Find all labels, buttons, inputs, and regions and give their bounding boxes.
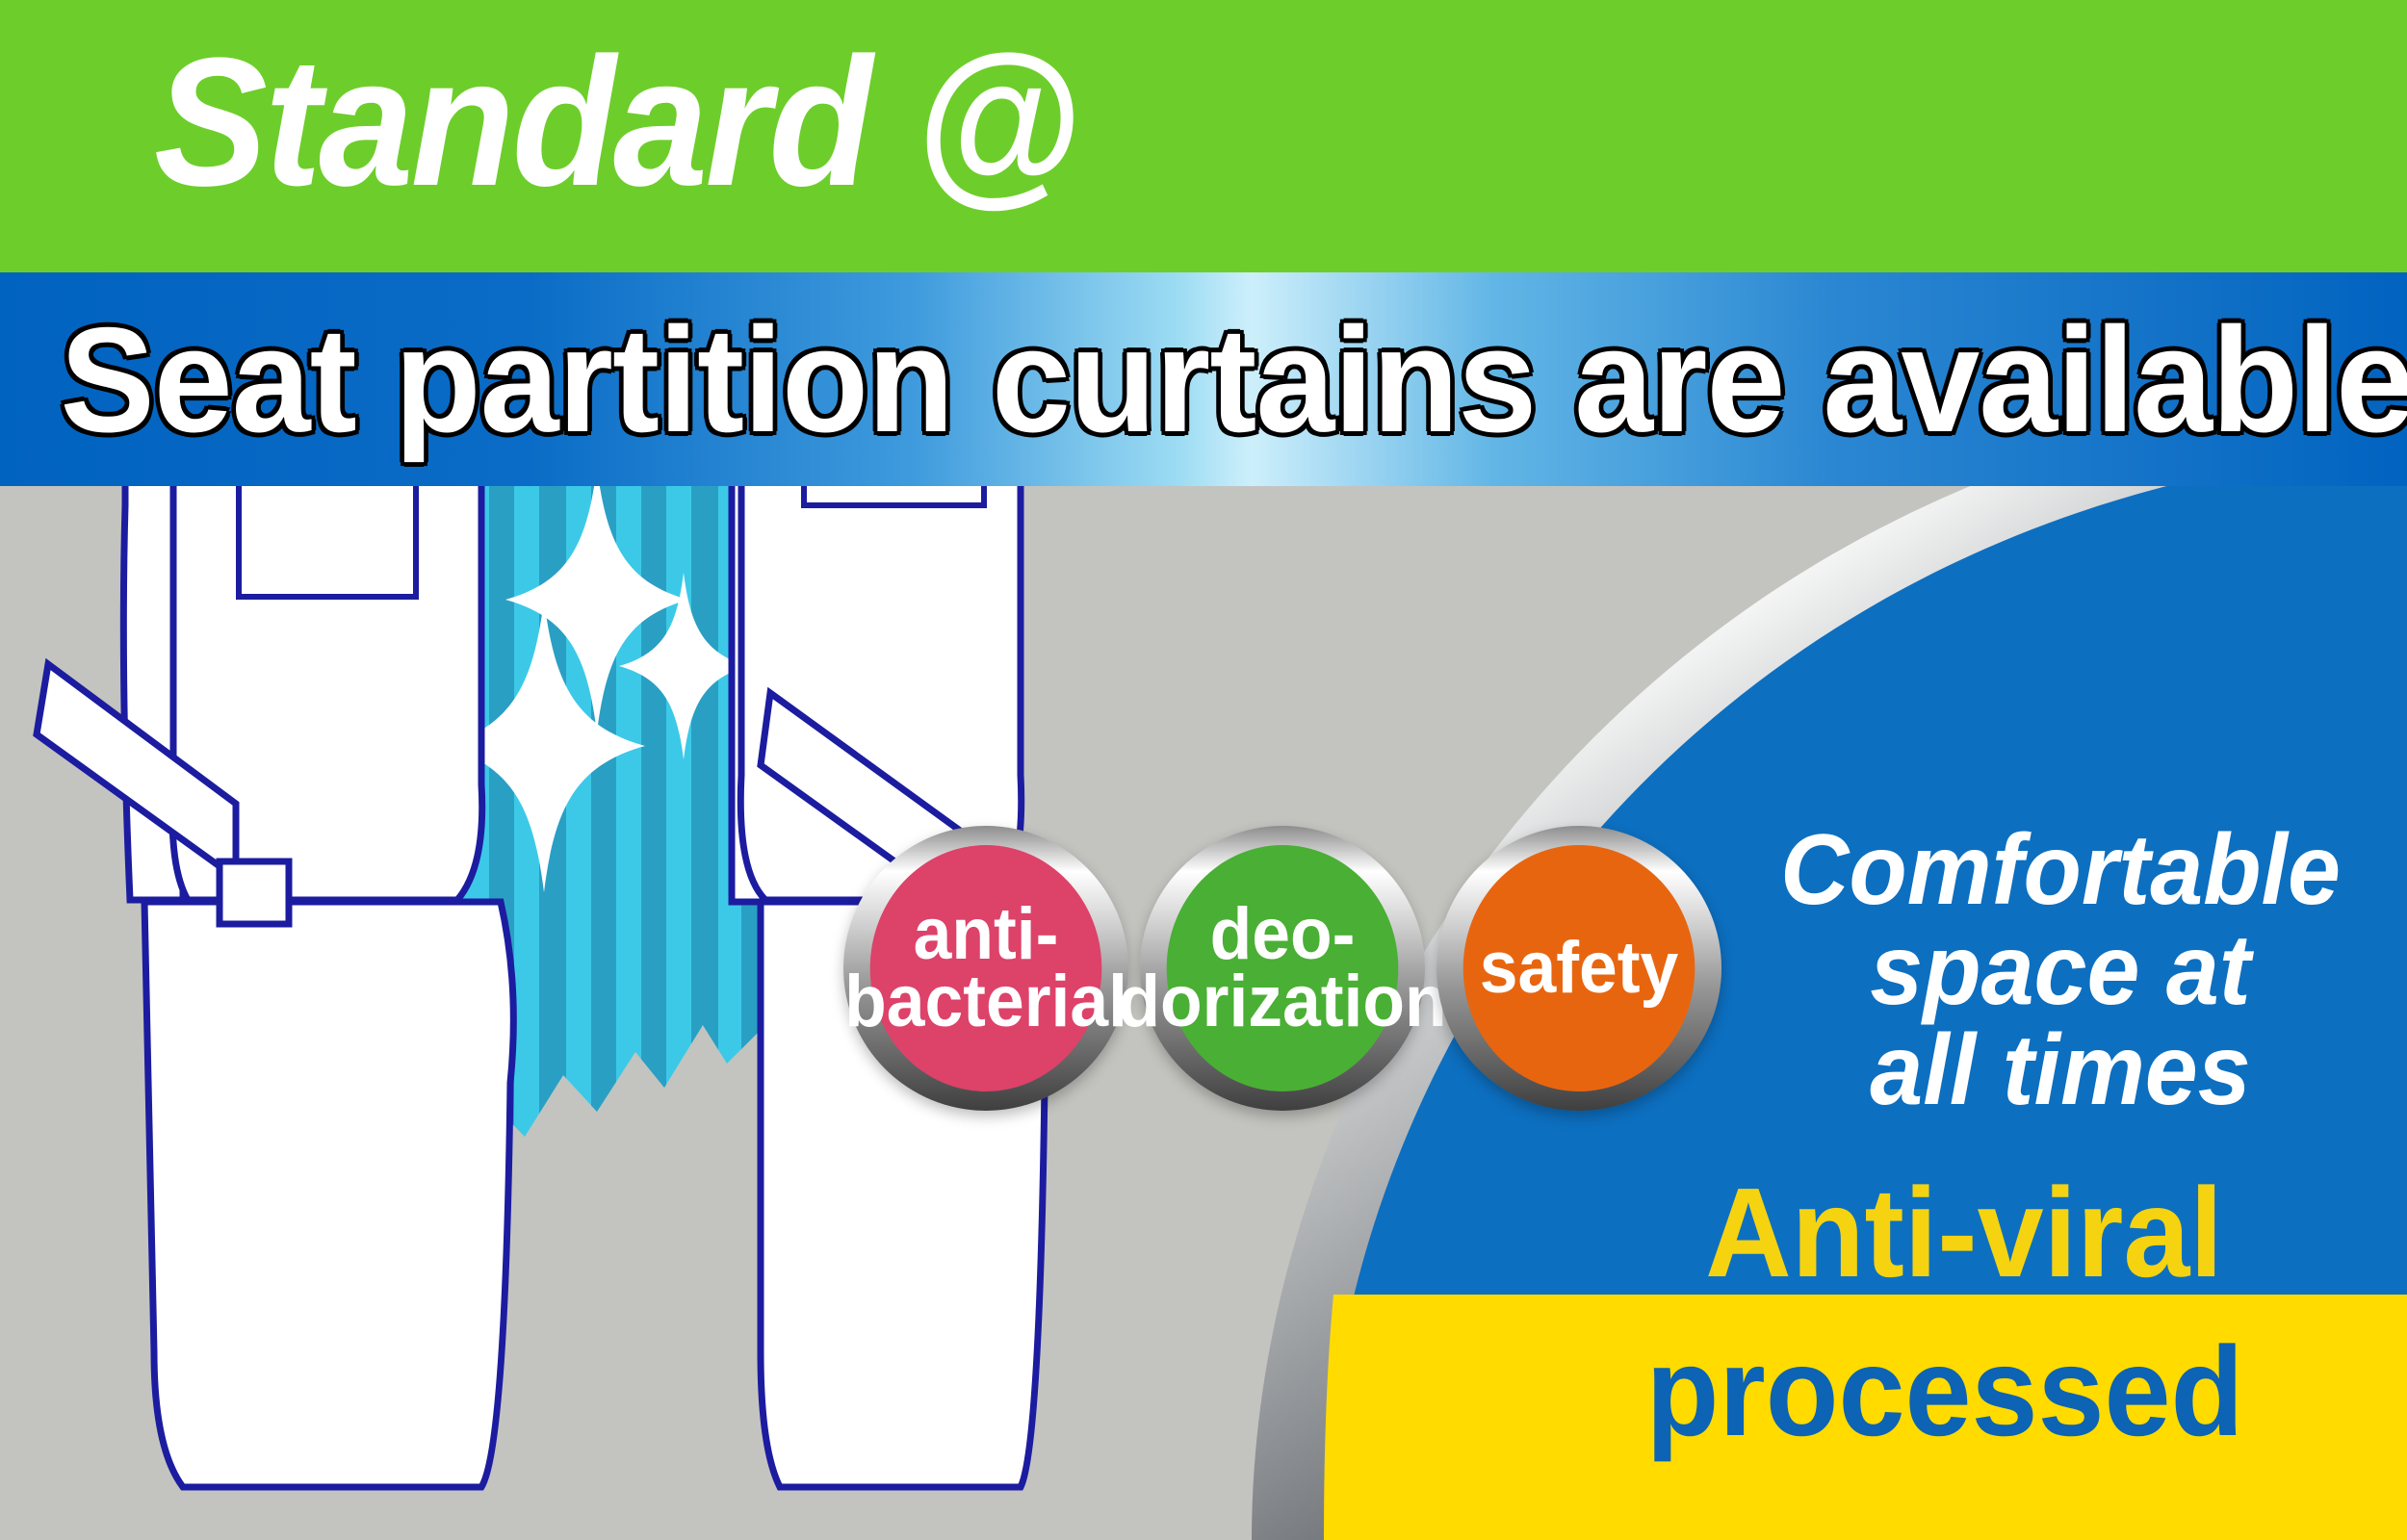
antiviral-text: Anti-viral — [1575, 1169, 2353, 1296]
badge-anti-bacterial-line2: bacterial — [844, 961, 1127, 1042]
processed-text: processed — [1538, 1328, 2352, 1455]
comfort-line-2: space at — [1777, 920, 2344, 1020]
poster-root: Standard @ Seat partition curtains are a… — [0, 0, 2407, 1540]
badge-safety-line1: safety — [1480, 935, 1679, 1002]
badge-deodorization-line2: dorization — [1118, 961, 1446, 1042]
page-title: Standard @ — [154, 31, 1077, 214]
badge-safety[interactable]: safety — [1436, 826, 1721, 1111]
badge-anti-bacterial[interactable]: anti- bacterial — [843, 826, 1128, 1111]
comfort-text: Comfortable space at all times — [1777, 820, 2344, 1120]
badge-anti-bacterial-label: anti- bacterial — [870, 845, 1102, 1091]
badge-deodorization-label: deo- dorization — [1167, 845, 1399, 1091]
header-bar: Standard @ — [0, 0, 2407, 272]
comfort-line-1: Comfortable — [1777, 820, 2344, 920]
badge-safety-label: safety — [1463, 845, 1695, 1091]
banner-headline: Seat partition curtains are available — [61, 284, 2347, 476]
badge-deodorization[interactable]: deo- dorization — [1140, 826, 1425, 1111]
comfort-line-3: all times — [1777, 1020, 2344, 1120]
